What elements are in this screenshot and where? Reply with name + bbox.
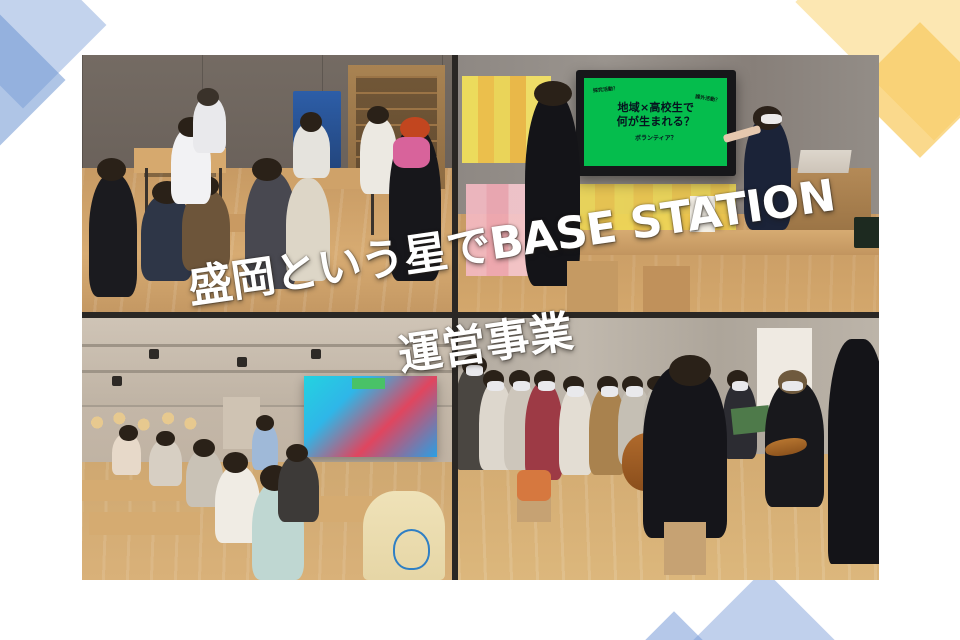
presentation-screen-text: 探究活動？ 課外活動？ 地域×高校生で 何が生まれる？ ボランティア？ [584, 78, 727, 165]
screen-main-line2: 何が生まれる？ [617, 115, 695, 129]
photo-grid: 探究活動？ 課外活動？ 地域×高校生で 何が生まれる？ ボランティア？ [82, 55, 879, 580]
screen-tag-left: 探究活動？ [593, 86, 619, 95]
screen-sub-text: ボランティア？ [635, 135, 677, 143]
photo-seminar-projector [82, 318, 452, 580]
tshirt-logo [393, 529, 430, 570]
photo-presentation-greenscreen: 探究活動？ 課外活動？ 地域×高校生で 何が生まれる？ ボランティア？ [458, 55, 879, 312]
photo-concert-strings [458, 318, 879, 580]
slide-canvas: 探究活動？ 課外活動？ 地域×高校生で 何が生まれる？ ボランティア？ [0, 0, 960, 640]
screen-main-line1: 地域×高校生で [618, 101, 695, 115]
screen-tag-right: 課外活動？ [695, 94, 721, 104]
photo-workshop-tables [82, 55, 452, 312]
